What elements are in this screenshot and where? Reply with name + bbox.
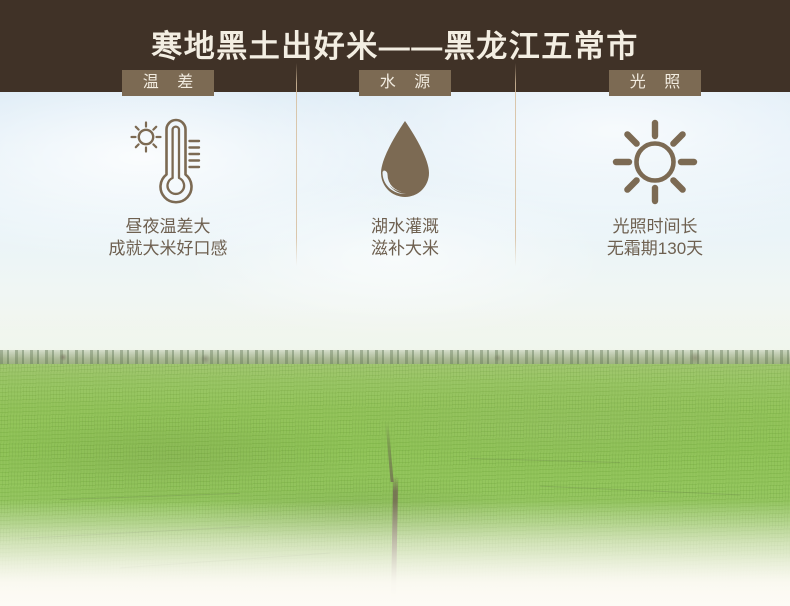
caption-line-2: 成就大米好口感 <box>109 238 228 260</box>
poster-root: 寒地黑土出好米——黑龙江五常市 温 差 <box>0 0 790 606</box>
caption-line-1: 昼夜温差大 <box>109 216 228 238</box>
sun-icon-svg <box>612 119 698 205</box>
feature-water: 水 源 湖水灌溉 滋补大米 <box>315 70 495 260</box>
caption-line-1: 光照时间长 <box>607 216 703 238</box>
caption-line-2: 滋补大米 <box>371 238 439 260</box>
thermometer-sun-icon <box>129 114 207 210</box>
thermometer-sun-icon-svg <box>129 116 207 208</box>
track-line <box>120 553 330 569</box>
feature-sunlight: 光 照 光照时间长 <box>545 70 765 260</box>
track-line <box>20 526 250 539</box>
feature-caption-temperature: 昼夜温差大 成就大米好口感 <box>109 216 228 260</box>
caption-line-1: 湖水灌溉 <box>371 216 439 238</box>
feature-caption-sunlight: 光照时间长 无霜期130天 <box>607 216 703 260</box>
water-droplet-icon-svg <box>374 118 436 206</box>
feature-badge-temperature: 温 差 <box>122 70 214 96</box>
feature-badge-water: 水 源 <box>359 70 451 96</box>
water-droplet-icon <box>374 114 436 210</box>
sun-icon <box>612 114 698 210</box>
feature-badge-sunlight: 光 照 <box>609 70 701 96</box>
feature-temperature: 温 差 <box>58 70 278 260</box>
feature-columns: 温 差 <box>0 0 790 514</box>
caption-line-2: 无霜期130天 <box>607 238 703 260</box>
column-divider <box>296 63 297 266</box>
column-divider <box>515 63 516 266</box>
feature-caption-water: 湖水灌溉 滋补大米 <box>371 216 439 260</box>
